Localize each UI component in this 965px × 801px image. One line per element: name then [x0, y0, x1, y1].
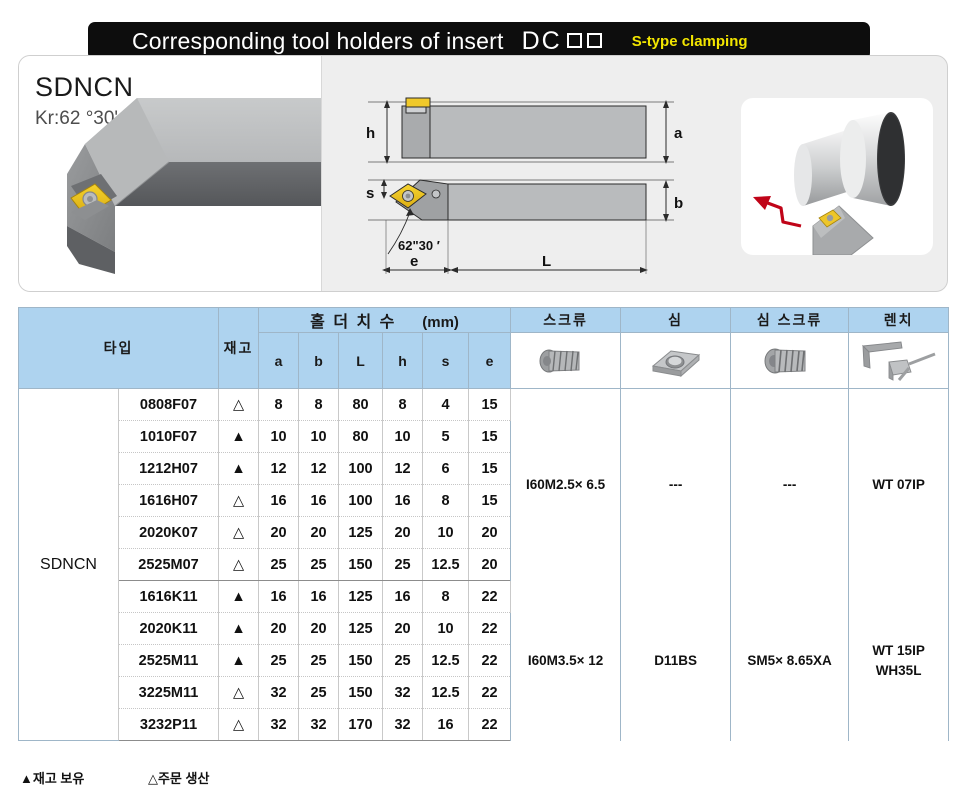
accessory-shim-screw: --- [731, 389, 849, 581]
row-dim-b: 25 [299, 677, 339, 709]
row-dim-s: 12.5 [423, 645, 469, 677]
header-dim-b: b [299, 333, 339, 389]
row-dim-L: 170 [339, 709, 383, 741]
row-code: 3232P11 [119, 709, 219, 741]
header-dim-L: L [339, 333, 383, 389]
header-shim: 심 [621, 308, 731, 333]
header-shim-screw: 심 스크류 [731, 308, 849, 333]
row-dim-e: 15 [469, 421, 511, 453]
wrench-icon [855, 338, 943, 384]
accessory-shim: --- [621, 389, 731, 581]
row-dim-h: 20 [383, 613, 423, 645]
row-dim-L: 125 [339, 517, 383, 549]
accessory-wrench: WT 15IP WH35L [849, 581, 949, 741]
row-code: 1212H07 [119, 453, 219, 485]
shim-screw-icon-cell [731, 333, 849, 389]
row-dim-a: 25 [259, 549, 299, 581]
row-dim-s: 6 [423, 453, 469, 485]
header-dimensions-label: 홀 더 치 수 [310, 314, 396, 331]
row-code: 3225M11 [119, 677, 219, 709]
header-type: 타입 [19, 308, 219, 389]
row-dim-a: 20 [259, 517, 299, 549]
table-row[interactable]: SDNCN 0808F07 △ 8 8 80 8 4 15 I60M2.5× 6… [19, 389, 949, 421]
row-dim-a: 32 [259, 709, 299, 741]
row-dim-a: 12 [259, 453, 299, 485]
row-dim-h: 16 [383, 581, 423, 613]
row-stock-mark: △ [219, 549, 259, 581]
row-code: 1010F07 [119, 421, 219, 453]
row-stock-mark: ▲ [219, 421, 259, 453]
row-dim-L: 100 [339, 453, 383, 485]
row-dim-h: 25 [383, 549, 423, 581]
row-dim-L: 80 [339, 389, 383, 421]
stock-legend: ▲재고 보유 △주문 생산 [20, 768, 209, 787]
table-body: SDNCN 0808F07 △ 8 8 80 8 4 15 I60M2.5× 6… [19, 389, 949, 741]
row-dim-h: 16 [383, 485, 423, 517]
row-stock-mark: ▲ [219, 453, 259, 485]
row-dim-L: 100 [339, 485, 383, 517]
row-stock-mark: △ [219, 677, 259, 709]
row-dim-L: 80 [339, 421, 383, 453]
row-stock-mark: ▲ [219, 645, 259, 677]
row-dim-a: 10 [259, 421, 299, 453]
row-dim-a: 16 [259, 485, 299, 517]
row-dim-s: 4 [423, 389, 469, 421]
turning-application-illustration [741, 98, 933, 255]
header-dim-s: s [423, 333, 469, 389]
row-dim-e: 20 [469, 517, 511, 549]
catalog-page: Corresponding tool holders of insert DC … [0, 0, 965, 801]
dim-label-s: s [366, 185, 374, 202]
row-dim-h: 8 [383, 389, 423, 421]
row-dim-e: 22 [469, 613, 511, 645]
header-stock: 재고 [219, 308, 259, 389]
row-code: 2525M11 [119, 645, 219, 677]
row-dim-b: 25 [299, 549, 339, 581]
row-dim-s: 8 [423, 581, 469, 613]
row-code: 0808F07 [119, 389, 219, 421]
row-dim-h: 32 [383, 709, 423, 741]
row-dim-a: 20 [259, 613, 299, 645]
row-dim-b: 12 [299, 453, 339, 485]
insert-code: DC [522, 27, 602, 56]
row-dim-h: 12 [383, 453, 423, 485]
row-dim-a: 8 [259, 389, 299, 421]
family-name-cell: SDNCN [19, 389, 119, 741]
row-dim-b: 16 [299, 485, 339, 517]
dim-label-b: b [674, 195, 683, 212]
row-dim-e: 20 [469, 549, 511, 581]
row-dim-a: 25 [259, 645, 299, 677]
row-dim-L: 125 [339, 581, 383, 613]
shim-icon [641, 338, 711, 384]
row-stock-mark: △ [219, 517, 259, 549]
row-dim-b: 25 [299, 645, 339, 677]
row-dim-b: 20 [299, 517, 339, 549]
row-code: 2020K11 [119, 613, 219, 645]
row-dim-b: 32 [299, 709, 339, 741]
row-dim-h: 25 [383, 645, 423, 677]
row-dim-b: 8 [299, 389, 339, 421]
row-dim-s: 10 [423, 613, 469, 645]
code-placeholder-box-1 [567, 33, 582, 48]
row-dim-s: 16 [423, 709, 469, 741]
insert-code-prefix: DC [522, 27, 562, 55]
accessory-screw: I60M2.5× 6.5 [511, 389, 621, 581]
row-stock-mark: ▲ [219, 613, 259, 645]
legend-made-to-order: △주문 생산 [148, 771, 209, 786]
row-dim-h: 10 [383, 421, 423, 453]
row-dim-s: 5 [423, 421, 469, 453]
row-dim-h: 20 [383, 517, 423, 549]
accessory-screw: I60M3.5× 12 [511, 581, 621, 741]
accessory-shim-screw: SM5× 8.65XA [731, 581, 849, 741]
product-photo-panel: SDNCN Kr:62 °30' [19, 56, 321, 291]
row-dim-h: 32 [383, 677, 423, 709]
application-example-box [741, 98, 933, 255]
row-dim-L: 125 [339, 613, 383, 645]
dim-label-L: L [542, 253, 551, 270]
header-screw: 스크류 [511, 308, 621, 333]
screw-icon-cell [511, 333, 621, 389]
row-dim-e: 22 [469, 581, 511, 613]
row-dim-s: 12.5 [423, 677, 469, 709]
shim-icon-cell [621, 333, 731, 389]
row-dim-L: 150 [339, 645, 383, 677]
screw-icon [531, 338, 601, 384]
row-code: 2020K07 [119, 517, 219, 549]
row-dim-e: 22 [469, 677, 511, 709]
header-dimensions-unit: (mm) [422, 314, 459, 331]
row-code: 1616K11 [119, 581, 219, 613]
row-stock-mark: △ [219, 485, 259, 517]
panel-divider [321, 56, 322, 291]
page-title: Corresponding tool holders of insert [132, 28, 504, 55]
code-placeholder-box-2 [587, 33, 602, 48]
table-header-row-1: 타입 재고 홀 더 치 수 (mm) 스크류 심 심 스크류 렌치 [19, 308, 949, 333]
row-dim-L: 150 [339, 549, 383, 581]
dim-label-h: h [366, 125, 375, 142]
row-dim-L: 150 [339, 677, 383, 709]
header-dimensions-group: 홀 더 치 수 (mm) [259, 308, 511, 333]
row-dim-b: 16 [299, 581, 339, 613]
header-dim-a: a [259, 333, 299, 389]
row-dim-e: 22 [469, 645, 511, 677]
row-code: 1616H07 [119, 485, 219, 517]
table-row[interactable]: 1616K11 ▲ 16 16 125 16 8 22 I60M3.5× 12 … [19, 581, 949, 613]
row-code: 2525M07 [119, 549, 219, 581]
header-dim-h: h [383, 333, 423, 389]
row-dim-e: 22 [469, 709, 511, 741]
row-dim-s: 12.5 [423, 549, 469, 581]
dim-label-e: e [410, 253, 418, 270]
wrench-icon-cell [849, 333, 949, 389]
row-dim-a: 32 [259, 677, 299, 709]
dim-label-a: a [674, 125, 683, 142]
header-dim-e: e [469, 333, 511, 389]
shim-screw-icon [755, 338, 825, 384]
row-dim-e: 15 [469, 453, 511, 485]
accessory-shim: D11BS [621, 581, 731, 741]
tool-holder-spec-table: 타입 재고 홀 더 치 수 (mm) 스크류 심 심 스크류 렌치 a b L … [18, 307, 949, 741]
dim-label-angle: 62"30 ′ [398, 238, 440, 253]
header-wrench: 렌치 [849, 308, 949, 333]
row-stock-mark: △ [219, 709, 259, 741]
row-dim-b: 20 [299, 613, 339, 645]
tool-holder-3d-illustration [19, 56, 321, 292]
row-dim-b: 10 [299, 421, 339, 453]
dimension-drawing: h a s b 62"30 ′ e L [344, 84, 704, 284]
row-dim-e: 15 [469, 389, 511, 421]
product-illustration-card: SDNCN Kr:62 °30' [18, 55, 948, 292]
legend-in-stock: ▲재고 보유 [20, 771, 84, 786]
accessory-wrench-line1: WT 15IP [849, 641, 948, 661]
row-dim-e: 15 [469, 485, 511, 517]
row-stock-mark: ▲ [219, 581, 259, 613]
row-dim-a: 16 [259, 581, 299, 613]
accessory-wrench-line2: WH35L [849, 661, 948, 681]
clamping-type-label: S-type clamping [632, 33, 748, 50]
row-stock-mark: △ [219, 389, 259, 421]
accessory-wrench: WT 07IP [849, 389, 949, 581]
row-dim-s: 10 [423, 517, 469, 549]
row-dim-s: 8 [423, 485, 469, 517]
